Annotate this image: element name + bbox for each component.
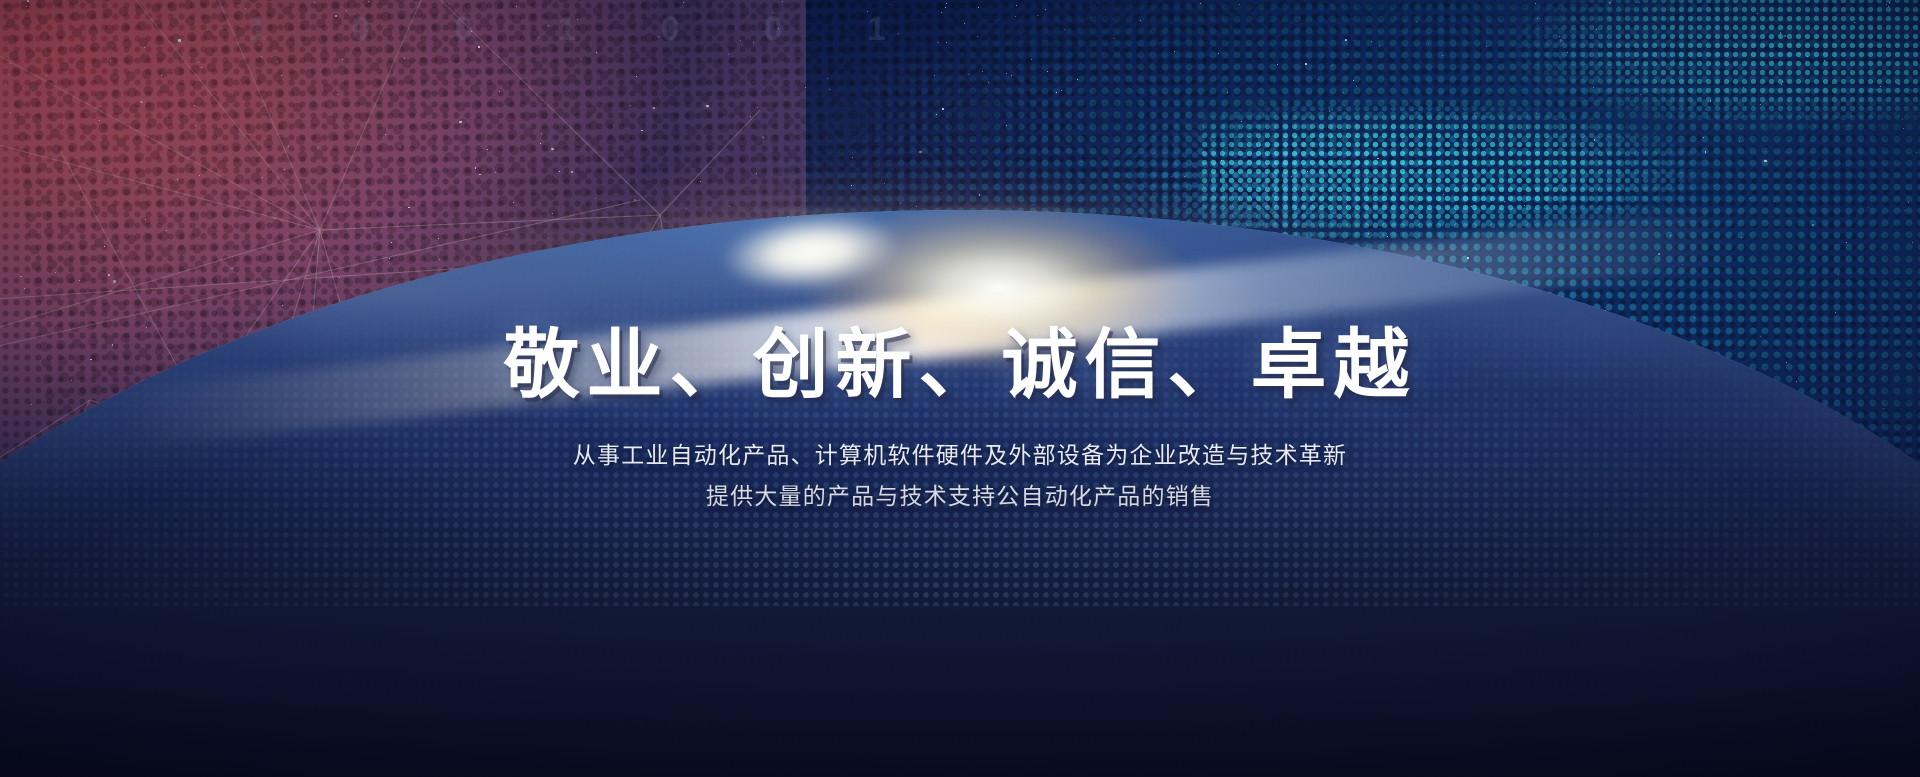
star — [1876, 89, 1877, 90]
star — [1903, 128, 1904, 129]
star — [1757, 13, 1758, 14]
star — [1011, 75, 1013, 77]
star — [1379, 46, 1380, 47]
binary-digit: 0 — [661, 10, 682, 49]
binary-digit: 1 — [867, 10, 888, 49]
star — [1416, 21, 1417, 22]
star — [1898, 83, 1900, 85]
star — [964, 23, 965, 24]
hero-banner: 1001001 敬业、创新、诚信、卓越 从事工业自动化产品、计算机软件硬件及外部… — [0, 0, 1920, 777]
star — [1064, 29, 1065, 30]
binary-digit: 1 — [558, 10, 579, 49]
star — [1567, 52, 1568, 53]
star — [1790, 1, 1791, 2]
star — [1031, 59, 1032, 60]
star — [934, 75, 935, 76]
star — [1047, 71, 1048, 72]
star — [1908, 202, 1909, 203]
star — [1006, 73, 1007, 74]
star — [1353, 40, 1354, 41]
star — [1784, 35, 1786, 37]
star — [968, 74, 969, 75]
binary-digit: 0 — [454, 10, 475, 49]
star — [1428, 43, 1429, 44]
star — [898, 33, 899, 34]
star — [1486, 46, 1487, 47]
star — [1442, 55, 1443, 56]
star — [1916, 152, 1917, 153]
star — [1889, 2, 1891, 4]
star — [1090, 17, 1091, 18]
star — [1886, 4, 1887, 5]
star — [889, 4, 890, 5]
star — [1846, 165, 1847, 166]
binary-digit: 0 — [764, 10, 785, 49]
star — [1461, 70, 1462, 71]
star — [1395, 17, 1396, 18]
star — [1596, 29, 1597, 30]
banner-content: 敬业、创新、诚信、卓越 从事工业自动化产品、计算机软件硬件及外部设备为企业改造与… — [0, 326, 1920, 518]
star — [1537, 18, 1538, 19]
star — [941, 12, 942, 13]
banner-headline: 敬业、创新、诚信、卓越 — [0, 326, 1920, 407]
star — [1140, 20, 1141, 21]
star — [1371, 41, 1372, 42]
binary-digit: 1 — [248, 10, 269, 49]
star — [1639, 2, 1640, 3]
star — [1174, 51, 1175, 52]
star — [978, 7, 979, 8]
star — [1535, 3, 1536, 4]
star — [1854, 22, 1855, 23]
banner-subtitle-line-2: 提供大量的产品与技术支持公自动化产品的销售 — [0, 476, 1920, 518]
star — [1239, 4, 1240, 5]
star — [1299, 17, 1300, 18]
star — [1832, 83, 1833, 84]
star — [1560, 39, 1562, 41]
star — [1348, 54, 1349, 55]
star — [937, 42, 939, 44]
star — [1818, 168, 1819, 169]
star — [945, 7, 946, 8]
star — [1902, 119, 1903, 120]
star — [1277, 64, 1278, 65]
star — [1345, 39, 1347, 41]
star — [977, 36, 978, 37]
star — [1848, 125, 1849, 126]
star — [1114, 38, 1115, 39]
star — [1218, 53, 1219, 54]
star — [1332, 65, 1333, 66]
star — [1880, 86, 1881, 87]
star — [1780, 32, 1782, 34]
binary-ghost-digits: 1001001 — [248, 8, 888, 50]
banner-subtitle: 从事工业自动化产品、计算机软件硬件及外部设备为企业改造与技术革新 提供大量的产品… — [0, 435, 1920, 519]
star — [1015, 16, 1017, 18]
star — [1016, 5, 1017, 6]
star — [1045, 9, 1046, 10]
star — [1305, 63, 1307, 65]
star — [1807, 56, 1808, 57]
star — [1673, 60, 1675, 62]
star — [946, 42, 947, 43]
star — [1750, 35, 1751, 36]
star — [1846, 129, 1847, 130]
star — [982, 71, 983, 72]
star — [1888, 6, 1889, 7]
star — [1559, 36, 1560, 37]
banner-subtitle-line-1: 从事工业自动化产品、计算机软件硬件及外部设备为企业改造与技术革新 — [0, 435, 1920, 477]
star — [946, 3, 947, 4]
star — [1868, 207, 1869, 208]
star — [782, 1, 783, 2]
binary-digit: 0 — [351, 10, 372, 49]
star — [1200, 3, 1201, 4]
star — [1824, 60, 1825, 61]
star — [1609, 2, 1611, 4]
star — [1609, 17, 1610, 18]
star — [1037, 15, 1039, 17]
